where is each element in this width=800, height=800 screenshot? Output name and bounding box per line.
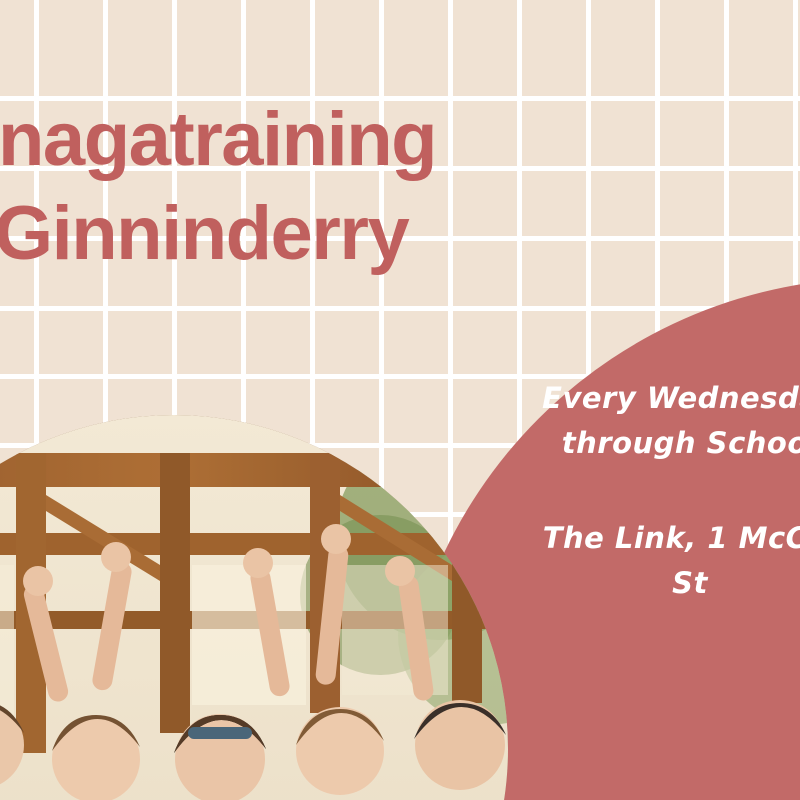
detail-spacer <box>430 466 800 516</box>
poster-canvas: nagatraining Ginninderry <box>0 0 800 800</box>
detail-line-3: The Link, 1 McCly <box>430 516 800 561</box>
event-details: Every Wednesday through School The Link,… <box>430 376 800 606</box>
page-title: nagatraining Ginninderry <box>0 104 640 270</box>
headline-line-2: Ginninderry <box>0 198 640 270</box>
detail-line-2: through School <box>430 421 800 466</box>
detail-line-1: Every Wednesday <box>430 376 800 421</box>
detail-line-4: St <box>430 561 800 606</box>
headline-line-1: nagatraining <box>0 104 640 176</box>
